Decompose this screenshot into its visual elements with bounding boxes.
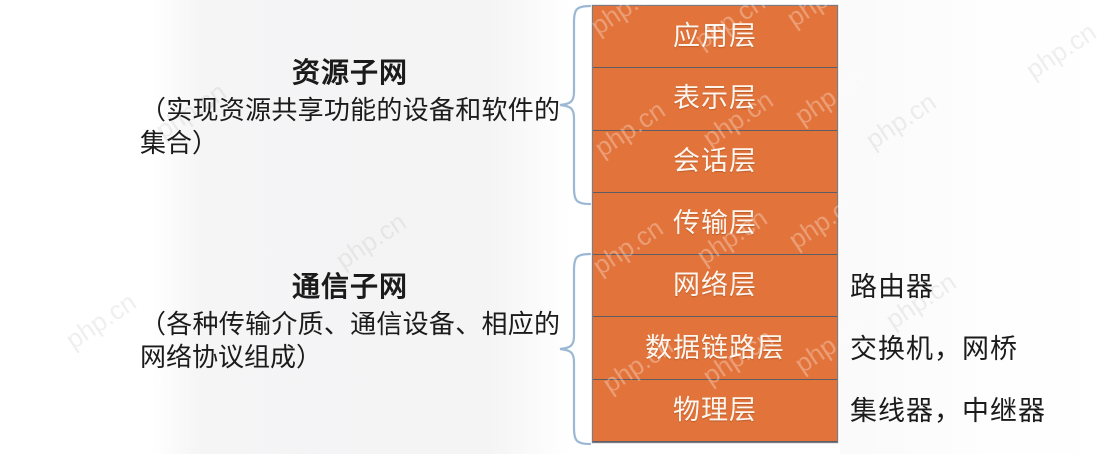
layer-presentation[interactable]: 表示层 bbox=[593, 68, 837, 130]
layer-physical[interactable]: 物理层 bbox=[593, 380, 837, 442]
watermark-text: php.cn bbox=[860, 86, 942, 155]
layer-label: 表示层 bbox=[673, 85, 757, 112]
layer-label: 传输层 bbox=[673, 210, 757, 237]
communication-subnet-description: （各种传输介质、通信设备、相应的网络协议组成） bbox=[140, 308, 560, 375]
layer-transport[interactable]: 传输层 bbox=[593, 193, 837, 255]
resource-subnet-text-group: 资源子网 （实现资源共享功能的设备和软件的集合） bbox=[140, 58, 560, 161]
layer-label: 会话层 bbox=[673, 148, 757, 175]
layer-network[interactable]: 网络层 bbox=[593, 255, 837, 317]
layer-session[interactable]: 会话层 bbox=[593, 131, 837, 193]
diagram-canvas: php.cn php.cn php.cn php.cn php.cn php.c… bbox=[0, 0, 1116, 454]
device-label-router: 路由器 bbox=[850, 274, 934, 301]
communication-subnet-title: 通信子网 bbox=[140, 272, 560, 304]
device-label-switch-bridge: 交换机，网桥 bbox=[850, 336, 1018, 363]
watermark-text: php.cn bbox=[330, 206, 412, 275]
layer-application[interactable]: 应用层 bbox=[593, 6, 837, 68]
osi-layer-stack: 应用层 表示层 会话层 传输层 网络层 数据链路层 物理层 php.cn php… bbox=[592, 5, 838, 443]
layer-label: 数据链路层 bbox=[645, 335, 785, 362]
watermark-text: php.cn bbox=[1020, 16, 1102, 85]
layer-label: 网络层 bbox=[673, 272, 757, 299]
layer-datalink[interactable]: 数据链路层 bbox=[593, 317, 837, 379]
background-band-right bbox=[840, 0, 1116, 454]
resource-subnet-description: （实现资源共享功能的设备和软件的集合） bbox=[140, 94, 560, 161]
resource-subnet-title: 资源子网 bbox=[140, 58, 560, 90]
watermark-text: php.cn bbox=[60, 286, 142, 355]
device-label-hub-repeater: 集线器，中继器 bbox=[850, 398, 1046, 425]
communication-subnet-text-group: 通信子网 （各种传输介质、通信设备、相应的网络协议组成） bbox=[140, 272, 560, 375]
layer-label: 应用层 bbox=[673, 23, 757, 50]
layer-label: 物理层 bbox=[673, 397, 757, 424]
